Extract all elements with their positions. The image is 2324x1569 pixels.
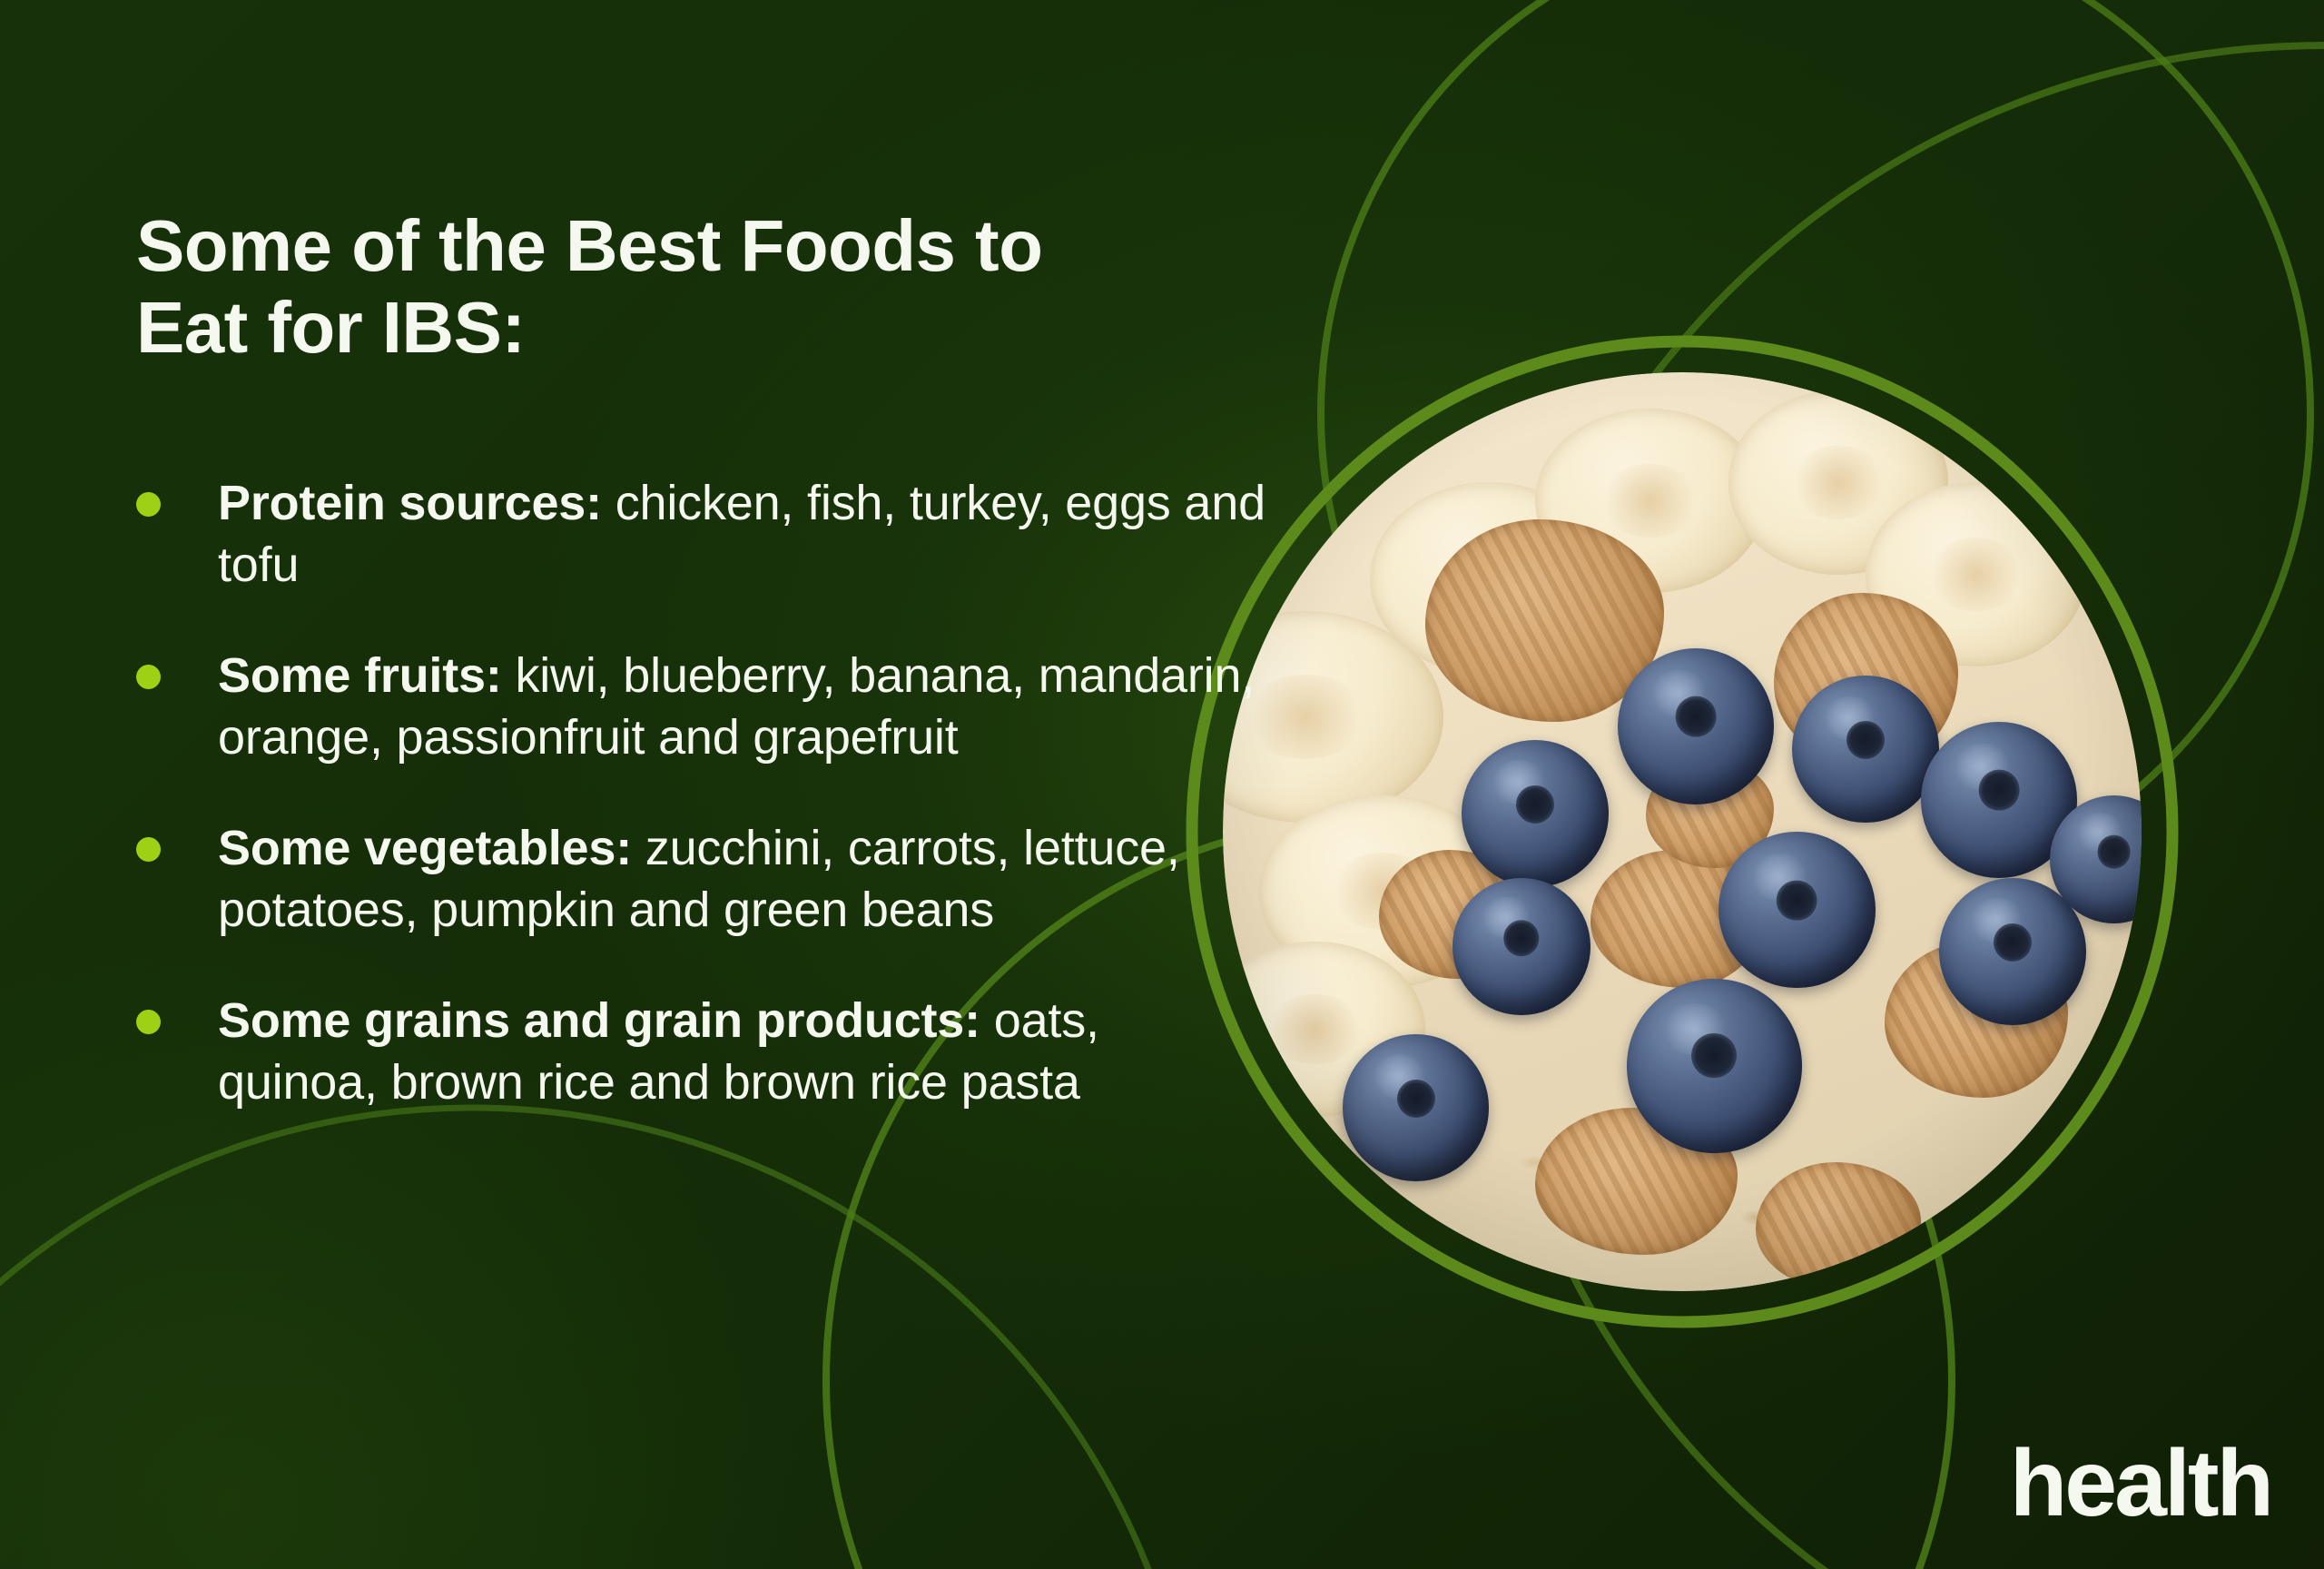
food-list: Protein sources: chicken, fish, turkey, …	[134, 472, 1269, 1113]
bullet-dot-icon	[136, 1010, 161, 1034]
page-title-line-1: Some of the Best Foods to	[136, 205, 1042, 286]
list-item-lead: Some fruits:	[218, 648, 502, 703]
list-item-text: Some fruits: kiwi, blueberry, banana, ma…	[218, 645, 1269, 768]
list-item: Protein sources: chicken, fish, turkey, …	[134, 472, 1269, 596]
page-title: Some of the Best Foods to Eat for IBS:	[136, 205, 1207, 370]
list-item: Some vegetables: zucchini, carrots, lett…	[134, 817, 1269, 941]
food-photo-image	[1223, 372, 2142, 1291]
list-item: Some fruits: kiwi, blueberry, banana, ma…	[134, 645, 1269, 768]
list-item: Some grains and grain products: oats, qu…	[134, 990, 1269, 1113]
food-photo	[1223, 372, 2142, 1291]
list-item-text: Some vegetables: zucchini, carrots, lett…	[218, 817, 1269, 941]
list-item-lead: Protein sources:	[218, 476, 602, 530]
list-item-lead: Some vegetables:	[218, 821, 632, 875]
photo-vignette	[1223, 372, 2142, 1291]
bullet-dot-icon	[136, 492, 161, 517]
bullet-dot-icon	[136, 665, 161, 689]
list-item-text: Some grains and grain products: oats, qu…	[218, 990, 1269, 1113]
bullet-dot-icon	[136, 837, 161, 862]
infographic-canvas: Some of the Best Foods to Eat for IBS: P…	[0, 0, 2324, 1569]
list-item-lead: Some grains and grain products:	[218, 993, 980, 1048]
list-item-text: Protein sources: chicken, fish, turkey, …	[218, 472, 1269, 596]
decorative-circle-bottom-left	[0, 1108, 1198, 1569]
brand-logo: health	[2010, 1436, 2271, 1531]
page-title-line-2: Eat for IBS:	[136, 287, 525, 368]
